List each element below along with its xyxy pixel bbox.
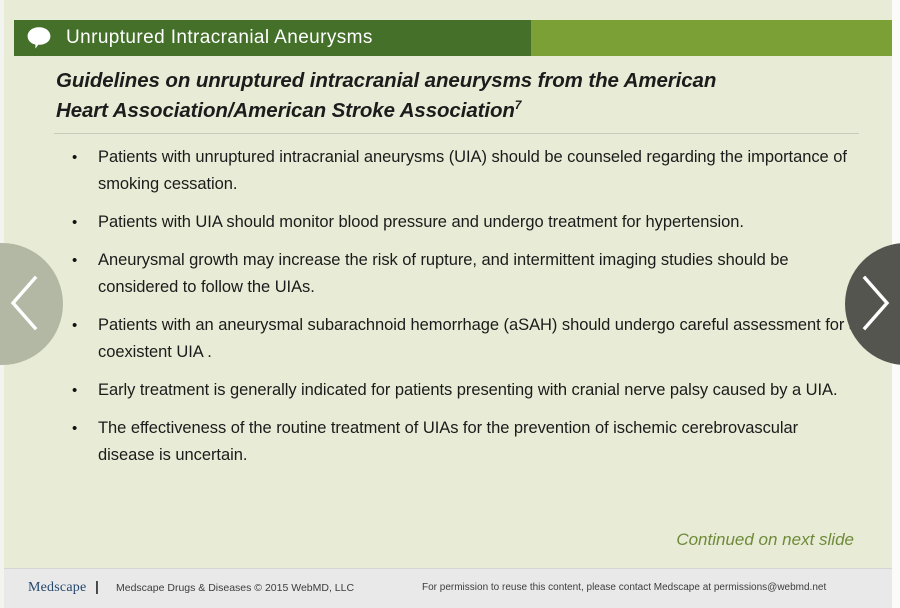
slide-header-title: Unruptured Intracranial Aneurysms — [66, 20, 373, 56]
title-divider — [54, 133, 859, 134]
footer-copyright: Medscape Drugs & Diseases © 2015 WebMD, … — [116, 582, 354, 594]
footer-separator: | — [95, 578, 99, 594]
page-title-citation: 7 — [515, 98, 522, 112]
medscape-logo[interactable]: Medscape — [28, 580, 86, 596]
slide-footer: Medscape | Medscape Drugs & Diseases © 2… — [4, 568, 892, 608]
continued-note: Continued on next slide — [676, 530, 854, 550]
list-item: • Patients with an aneurysmal subarachno… — [68, 312, 858, 366]
list-item: • Patients with unruptured intracranial … — [68, 144, 858, 198]
list-item-text: Patients with unruptured intracranial an… — [98, 144, 858, 198]
list-item: • Aneurysmal growth may increase the ris… — [68, 247, 858, 301]
brain-icon — [26, 26, 52, 50]
footer-permission-notice: For permission to reuse this content, pl… — [422, 582, 826, 593]
list-item-text: Patients with an aneurysmal subarachnoid… — [98, 312, 858, 366]
previous-slide-button[interactable] — [0, 243, 63, 365]
list-item-text: Patients with UIA should monitor blood p… — [98, 209, 858, 236]
chevron-right-icon — [859, 274, 893, 332]
page-title-line-1: Guidelines on unruptured intracranial an… — [56, 69, 716, 92]
slide-canvas: Unruptured Intracranial Aneurysms Guidel… — [4, 0, 892, 568]
list-item-text: The effectiveness of the routine treatme… — [98, 415, 858, 469]
presentation-slide: Unruptured Intracranial Aneurysms Guidel… — [0, 0, 900, 608]
list-item: • Patients with UIA should monitor blood… — [68, 209, 858, 236]
bullet-marker-icon: • — [68, 415, 98, 442]
page-title-line-2: Heart Association/American Stroke Associ… — [56, 99, 515, 122]
bullet-marker-icon: • — [68, 377, 98, 404]
list-item-text: Aneurysmal growth may increase the risk … — [98, 247, 858, 301]
page-title: Guidelines on unruptured intracranial an… — [56, 66, 856, 126]
list-item-text: Early treatment is generally indicated f… — [98, 377, 858, 404]
slide-header-bar: Unruptured Intracranial Aneurysms — [14, 20, 892, 56]
list-item: • Early treatment is generally indicated… — [68, 377, 858, 404]
bullet-marker-icon: • — [68, 247, 98, 274]
list-item: • The effectiveness of the routine treat… — [68, 415, 858, 469]
bullet-marker-icon: • — [68, 209, 98, 236]
bullet-list: • Patients with unruptured intracranial … — [68, 144, 858, 480]
bullet-marker-icon: • — [68, 312, 98, 339]
chevron-left-icon — [7, 274, 41, 332]
bullet-marker-icon: • — [68, 144, 98, 171]
